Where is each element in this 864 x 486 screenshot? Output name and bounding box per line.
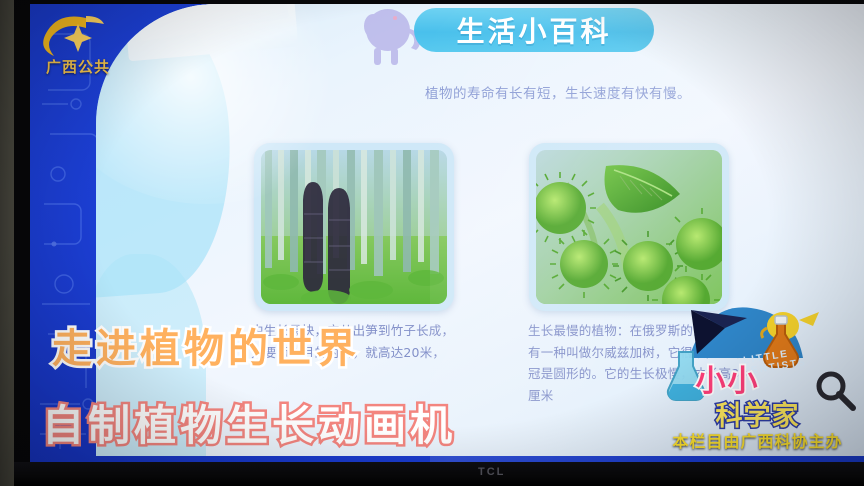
slide-subtitle: 植物的寿命有长有短，生长速度有快有慢。 bbox=[348, 82, 768, 102]
decorative-paper-sheet-back bbox=[133, 4, 289, 41]
channel-name: 广西公共 bbox=[26, 56, 130, 77]
overlay-caption-line2-text: 自制植物生长动画机 bbox=[42, 401, 456, 450]
channel-bug: 广西公共 bbox=[26, 12, 130, 78]
tv-brand-mark: TCL bbox=[478, 466, 505, 478]
bamboo-illustration-icon bbox=[261, 150, 447, 304]
sponsor-line: 本栏目由广西科协主办 bbox=[655, 428, 860, 452]
slide-title-text: 生活小百科 bbox=[456, 10, 611, 50]
bamboo-forest-photo bbox=[254, 143, 454, 311]
tv-bezel-bottom bbox=[14, 462, 864, 486]
chestnut-burrs-photo bbox=[529, 143, 729, 311]
little-scientists-logo: LITTLE SCIENTISTS 小小 科学家 本栏目由广西科协主办 bbox=[655, 312, 860, 452]
overlay-caption-line1: 走进植物的世界 bbox=[52, 316, 360, 374]
tv-screenshot: 手博 Dr.Han ✦ ✦ bbox=[0, 0, 864, 486]
chestnut-illustration-icon bbox=[536, 150, 722, 304]
decorative-paper-sheet bbox=[124, 4, 299, 61]
overlay-caption-line1-text: 走进植物的世界 bbox=[52, 326, 360, 372]
slide-title-group: 生活小百科 bbox=[414, 8, 654, 52]
overlay-caption-line2: 自制植物生长动画机 bbox=[42, 392, 456, 453]
slide-title-pill: 生活小百科 bbox=[414, 8, 654, 52]
guangxi-public-logo-icon bbox=[26, 12, 130, 60]
